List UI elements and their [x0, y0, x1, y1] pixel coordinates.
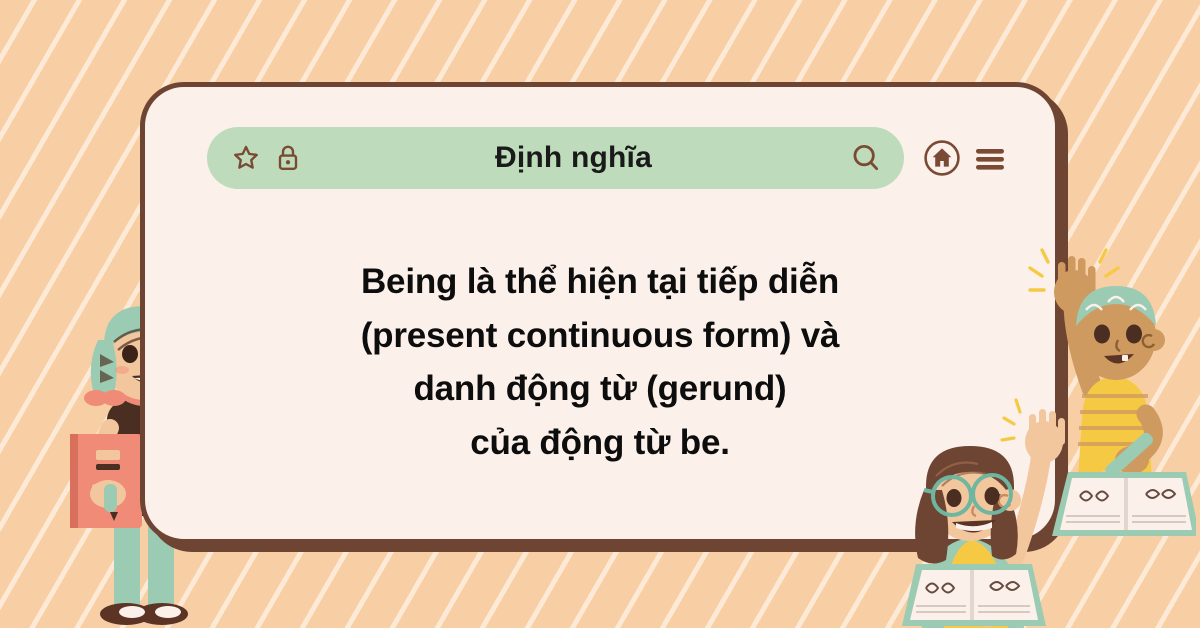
card-title: Định nghĩa [297, 141, 850, 175]
definition-line: danh động từ (gerund) [205, 362, 995, 416]
nav-icon-group [922, 138, 1007, 178]
star-icon[interactable] [231, 143, 261, 173]
menu-icon[interactable] [973, 142, 1007, 174]
card-toolbar: Định nghĩa [207, 127, 1007, 189]
definition-line: (present continuous form) và [205, 309, 995, 363]
definition-line: của động từ be. [205, 416, 995, 470]
definition-line: Being là thể hiện tại tiếp diễn [205, 255, 995, 309]
search-bar[interactable]: Định nghĩa [207, 127, 904, 189]
open-book-front [902, 564, 1046, 626]
home-icon[interactable] [922, 138, 962, 178]
open-book-back [1052, 472, 1196, 536]
search-icon[interactable] [850, 142, 882, 174]
students-characters-illustration [896, 228, 1196, 628]
screenshot-canvas: Định nghĩa [0, 0, 1200, 628]
